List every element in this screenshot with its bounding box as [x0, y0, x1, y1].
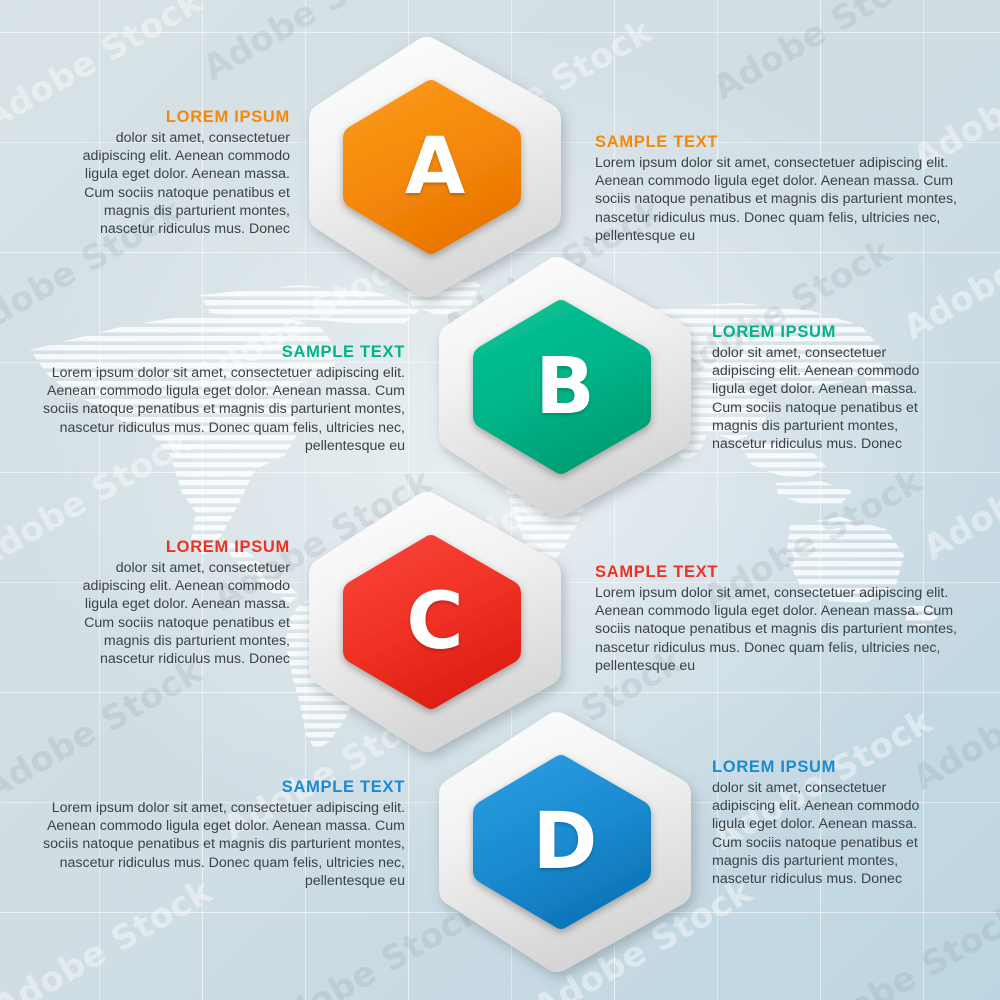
panel-a-left-heading: LOREM IPSUM: [55, 108, 290, 127]
panel-d-right: LOREM IPSUM dolor sit amet, consectetuer…: [712, 758, 947, 888]
panel-c-left-body: dolor sit amet, consectetuer adipiscing …: [55, 559, 290, 668]
panel-d-right-heading: LOREM IPSUM: [712, 758, 947, 777]
panel-d-left-body: Lorem ipsum dolor sit amet, consectetuer…: [35, 799, 405, 890]
panel-d-left-heading: SAMPLE TEXT: [35, 778, 405, 797]
panel-a-right: SAMPLE TEXT Lorem ipsum dolor sit amet, …: [595, 133, 965, 245]
panel-a-right-body: Lorem ipsum dolor sit amet, consectetuer…: [595, 154, 965, 245]
panel-b-right-body: dolor sit amet, consectetuer adipiscing …: [712, 344, 947, 453]
hexagon-step-b[interactable]: B: [435, 255, 695, 519]
panel-c-left: LOREM IPSUM dolor sit amet, consectetuer…: [55, 538, 290, 668]
panel-d-right-body: dolor sit amet, consectetuer adipiscing …: [712, 779, 947, 888]
panel-b-right: LOREM IPSUM dolor sit amet, consectetuer…: [712, 323, 947, 453]
panel-c-right: SAMPLE TEXT Lorem ipsum dolor sit amet, …: [595, 563, 965, 675]
panel-a-left-body: dolor sit amet, consectetuer adipiscing …: [55, 129, 290, 238]
panel-b-left: SAMPLE TEXT Lorem ipsum dolor sit amet, …: [35, 343, 405, 455]
hexagon-step-d[interactable]: D: [435, 710, 695, 974]
panel-b-right-heading: LOREM IPSUM: [712, 323, 947, 342]
infographic-canvas: Adobe Stock Adobe Stock Adobe Stock Adob…: [0, 0, 1000, 1000]
panel-c-right-body: Lorem ipsum dolor sit amet, consectetuer…: [595, 584, 965, 675]
panel-d-left: SAMPLE TEXT Lorem ipsum dolor sit amet, …: [35, 778, 405, 890]
panel-c-right-heading: SAMPLE TEXT: [595, 563, 965, 582]
panel-c-left-heading: LOREM IPSUM: [55, 538, 290, 557]
panel-b-left-body: Lorem ipsum dolor sit amet, consectetuer…: [35, 364, 405, 455]
panel-a-right-heading: SAMPLE TEXT: [595, 133, 965, 152]
panel-b-left-heading: SAMPLE TEXT: [35, 343, 405, 362]
panel-a-left: LOREM IPSUM dolor sit amet, consectetuer…: [55, 108, 290, 238]
